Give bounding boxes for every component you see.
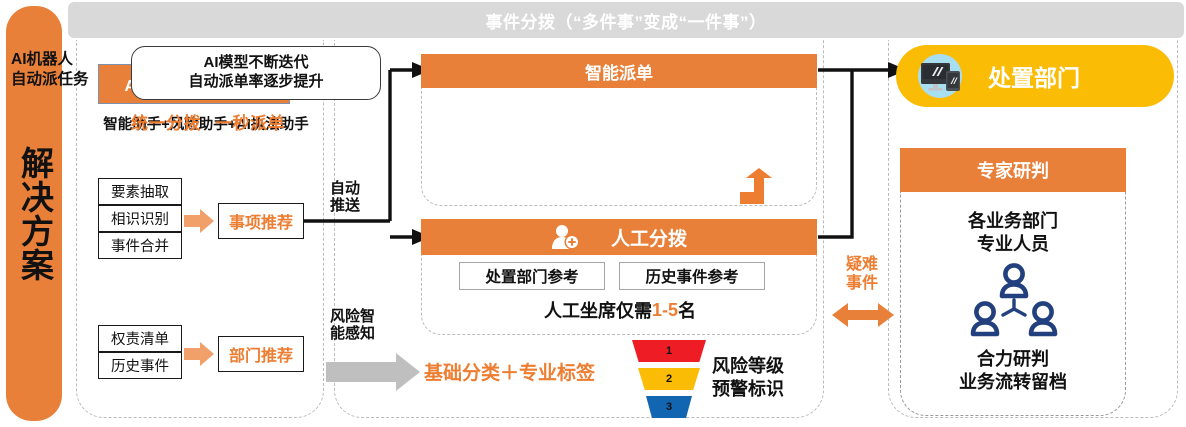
one-second-dispatch-label: 一秒派单 (215, 109, 285, 134)
expert-bottom-line-2: 业务流转留档 (900, 371, 1126, 394)
smart-dispatch-header: 智能派单 (421, 54, 817, 88)
three-people-collab-icon (966, 262, 1062, 340)
funnel-segment: 3 (646, 396, 692, 418)
item-box: 要素抽取 (98, 178, 182, 205)
reference-box: 处置部门参考 (459, 262, 605, 290)
seats-highlight: 1-5 (652, 300, 678, 321)
ai-robot-text: AI机器人 自动派任务 (11, 50, 123, 102)
hard-case-label: 疑难 事件 (836, 255, 888, 299)
hard-case-line-2: 事件 (836, 274, 888, 293)
grey-block-arrow-icon (326, 353, 420, 391)
expert-top-line-2: 专业人员 (900, 233, 1126, 256)
item-box: 权责清单 (98, 325, 182, 352)
unified-dispatch-label: 统一分拨 (131, 109, 201, 134)
recommend-dept-box: 部门推荐 (218, 336, 304, 372)
seats-prefix: 人工坐席仅需 (544, 297, 652, 323)
top-banner: 事件分拨（“多件事”变成“一件事”） (68, 2, 1184, 38)
funnel-segment: 2 (638, 368, 700, 390)
smart-dispatch-title: 智能派单 (585, 59, 653, 84)
expert-bottom-text: 合力研判 业务流转留档 (900, 348, 1126, 404)
reference-box: 历史事件参考 (619, 262, 765, 290)
risk-funnel: 1 2 3 (632, 340, 706, 420)
risk-level-label: 风险等级 预警标识 (712, 355, 822, 407)
auto-push-line-2: 推送 (330, 197, 392, 214)
person-add-icon (551, 224, 581, 250)
dept-pill-label: 处置部门 (988, 59, 1080, 93)
funnel-segment-label: 1 (666, 345, 672, 357)
ai-robot-line-1: AI机器人 (11, 50, 123, 70)
funnel-segment-label: 3 (666, 401, 672, 413)
expert-top-text: 各业务部门 专业人员 (900, 210, 1126, 262)
expert-panel-header: 专家研判 (900, 148, 1126, 192)
left-bar-label: 解决方案 (15, 146, 54, 282)
recommend-item-box: 事项推荐 (218, 203, 304, 239)
risk-sense-line-1: 风险智 (330, 308, 396, 325)
basic-classification-label: 基础分类＋专业标签 (424, 355, 624, 387)
dept-pill[interactable]: 处置部门 (896, 45, 1174, 107)
item-box: 事件合并 (98, 232, 182, 259)
block-arrow-right-icon (184, 209, 214, 233)
smart-dispatch-footer: 统一分拨 一秒派单 (131, 106, 341, 136)
top-banner-title: 事件分拨（“多件事”变成“一件事”） (486, 8, 767, 33)
item-box: 历史事件 (98, 352, 182, 379)
risk-sense-line-2: 能感知 (330, 325, 396, 342)
seats-suffix: 名 (678, 297, 696, 323)
ai-model-line-2: 自动派单率逐步提升 (188, 73, 323, 92)
block-arrow-right-icon (184, 342, 214, 366)
hard-case-line-1: 疑难 (836, 255, 888, 274)
ai-robot-line-2: 自动派任务 (11, 70, 123, 90)
seats-line: 人工坐席仅需1-5名 (440, 296, 800, 324)
expert-panel-title: 专家研判 (977, 157, 1049, 183)
risk-level-line-1: 风险等级 (712, 355, 822, 378)
auto-push-label: 自动 推送 (330, 180, 392, 220)
double-arrow-horizontal-icon (832, 300, 894, 330)
item-box: 相识识别 (98, 205, 182, 232)
manual-dispatch-title: 人工分拨 (611, 224, 687, 251)
auto-push-line-1: 自动 (330, 180, 392, 197)
diagram-canvas: 解决方案 事件分拨（“多件事”变成“一件事”） AIOC智能算法引擎 智能助手+… (0, 0, 1186, 427)
ai-model-box: AI模型不断迭代 自动派单率逐步提升 (131, 46, 381, 100)
risk-level-line-2: 预警标识 (712, 378, 822, 401)
arrow-up-elbow-icon (740, 168, 772, 204)
expert-bottom-line-1: 合力研判 (900, 348, 1126, 371)
funnel-segment-label: 2 (666, 373, 672, 385)
expert-top-line-1: 各业务部门 (900, 210, 1126, 233)
risk-sense-label: 风险智 能感知 (330, 308, 396, 348)
funnel-segment: 1 (632, 340, 706, 362)
manual-dispatch-header: 人工分拨 (421, 219, 817, 255)
ai-model-line-1: AI模型不断迭代 (203, 54, 308, 73)
monitor-tablet-icon (914, 50, 966, 102)
